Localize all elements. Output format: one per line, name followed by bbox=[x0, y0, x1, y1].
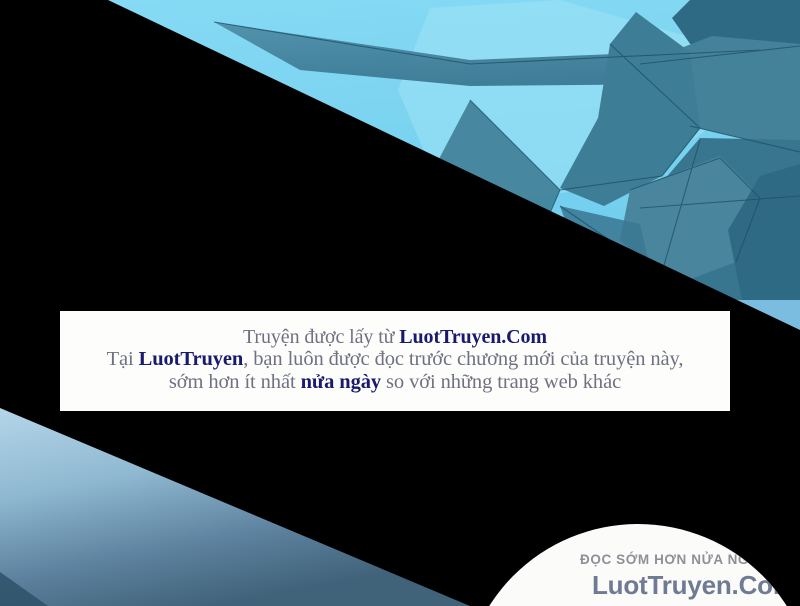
promo-line-2: Tại LuotTruyen, bạn luôn được đọc trước … bbox=[107, 348, 684, 371]
comic-panel: Truyện được lấy từ LuotTruyen.Com Tại Lu… bbox=[0, 0, 800, 606]
promo-line-2-post: , bạn luôn được đọc trước chương mới của… bbox=[243, 348, 683, 370]
promo-banner: Truyện được lấy từ LuotTruyen.Com Tại Lu… bbox=[60, 311, 730, 411]
promo-line-1-brand: LuotTruyen.Com bbox=[399, 326, 547, 348]
corner-watermark-text-group: ĐỌC SỚM HƠN NỬA NGÀY TẠI LuotTruyen.Com bbox=[462, 552, 800, 601]
promo-line-1: Truyện được lấy từ LuotTruyen.Com bbox=[243, 326, 547, 348]
corner-watermark-tagline: ĐỌC SỚM HƠN NỬA NGÀY TẠI bbox=[580, 552, 800, 567]
promo-line-2-brand: LuotTruyen bbox=[139, 348, 244, 370]
promo-line-3-post: so với những trang web khác bbox=[381, 371, 621, 393]
corner-watermark-brand: LuotTruyen.Com bbox=[580, 570, 800, 601]
promo-line-3: sớm hơn ít nhất nửa ngày so với những tr… bbox=[169, 371, 621, 394]
promo-line-3-pre: sớm hơn ít nhất bbox=[169, 371, 301, 393]
promo-line-1-pre: Truyện được lấy từ bbox=[243, 326, 399, 348]
promo-line-3-brand: nửa ngày bbox=[301, 371, 381, 393]
promo-line-2-pre: Tại bbox=[107, 348, 139, 370]
panel-artwork bbox=[0, 0, 800, 606]
